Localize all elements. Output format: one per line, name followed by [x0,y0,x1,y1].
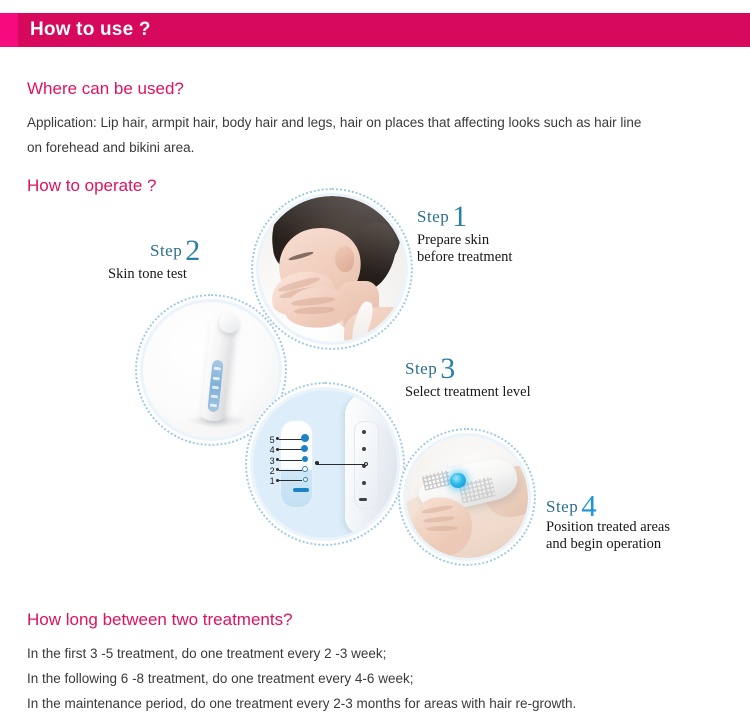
washing-face-image [259,196,405,342]
level-dot-4 [301,445,308,452]
treatment-interval-line-2: In the following 6 -8 treatment, do one … [27,666,413,691]
step-4-number: 4 [581,488,597,523]
panel-indicator-dash [293,488,309,492]
level-label-4: 4 [257,446,274,455]
step-3-number: 3 [440,352,455,385]
step-2-description: Skin tone test [108,266,187,283]
step-4-description: Position treated areas and begin operati… [546,519,670,553]
step-2-number: 2 [185,234,200,267]
level-label-3: 3 [257,457,274,466]
device-in-use-image [406,436,528,558]
level-label-1: 1 [257,477,274,486]
step-1-description: Prepare skin before treatment [417,232,512,266]
device-indicator-light [450,473,466,489]
level-selector-diagram: 5 4 3 2 1 [253,390,397,538]
level-dot-3 [302,456,308,462]
treatment-interval-line-1: In the first 3 -5 treatment, do one trea… [27,641,386,666]
level-dot-5 [301,434,309,442]
level-dot-1 [303,477,308,482]
level-label-2: 2 [257,467,274,476]
treatment-interval-line-3: In the maintenance period, do one treatm… [27,691,576,716]
level-label-5: 5 [257,436,274,445]
step-2-word: Step [150,241,182,260]
step-3-word: Step [405,359,437,378]
step-1-word: Step [417,207,449,226]
step-1-number: 1 [452,200,467,233]
step-4-photo-device-in-use [398,428,536,566]
step-2-label: Step2 [150,234,200,268]
step-4-word: Step [546,497,578,516]
step-3-photo-level-selector: 5 4 3 2 1 [245,382,405,546]
diagram-level-panel [280,420,313,509]
step-1-photo-washing-face [251,188,413,350]
step-3-label: Step3 [405,352,455,386]
step-3-description: Select treatment level [405,384,531,401]
section-heading-how-long-between-treatments: How long between two treatments? [27,610,293,630]
step-1-label: Step1 [417,200,467,234]
